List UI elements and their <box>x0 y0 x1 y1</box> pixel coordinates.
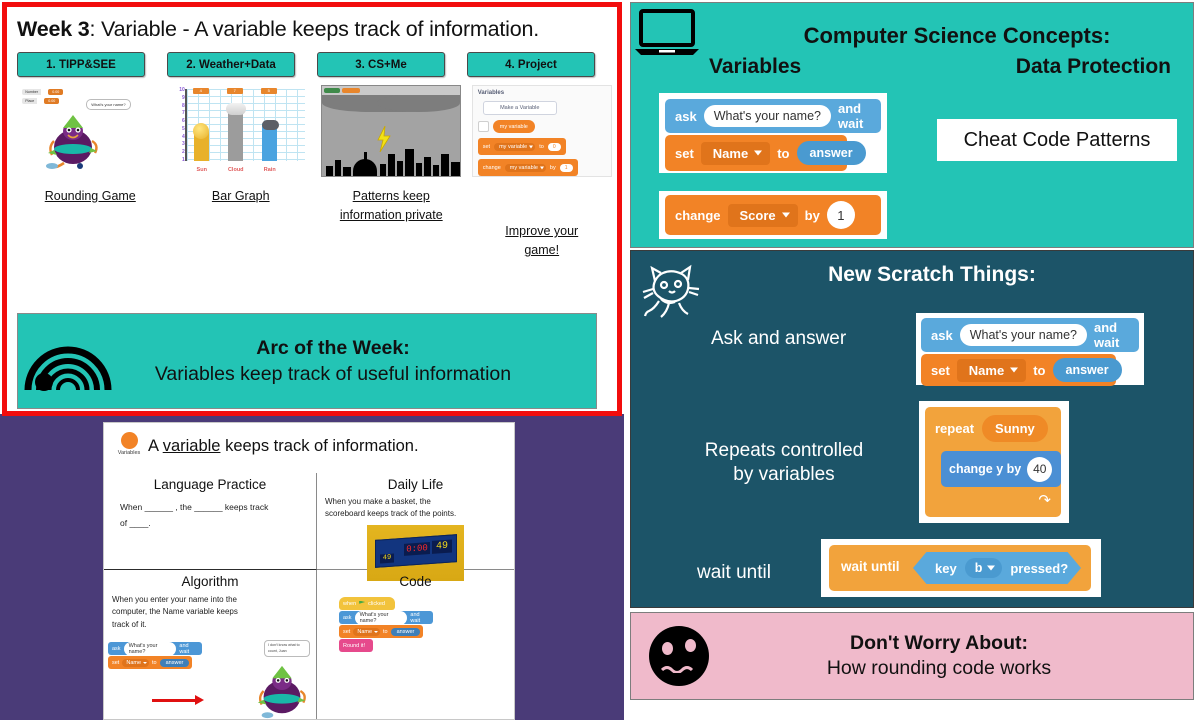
nst-ask-prompt-input[interactable]: What's your name? <box>960 324 1087 346</box>
cs-concepts-sub-variables: Variables <box>709 55 801 79</box>
repeat-block-header: repeat Sunny <box>925 407 1061 442</box>
code-ask-prompt-input[interactable]: What's your name? <box>355 611 408 625</box>
set-block-label: set <box>483 144 490 150</box>
nst-wait-until-card: wait until key b pressed? <box>821 539 1101 597</box>
arc-text-wrapper: Arc of the Week: Variables keep track of… <box>80 337 596 386</box>
tab-project[interactable]: 4. Project <box>467 52 595 77</box>
cs-to-label: to <box>777 146 789 161</box>
ytick-3: 3 <box>173 141 185 147</box>
ytick-8: 8 <box>173 103 185 109</box>
key-pressed-boolean[interactable]: key b pressed? <box>913 552 1081 584</box>
variables-badge-label: Variables <box>112 450 146 456</box>
card-title-pre: A <box>148 437 163 455</box>
thumbnail-caption-improve-game[interactable]: Improve your game! <box>505 222 578 261</box>
variable-readout-icon <box>342 88 360 93</box>
slide-canvas: Week 3: Variable - A variable keeps trac… <box>0 0 1196 720</box>
thumbnail-rounding-game[interactable]: Number 0.00 Place 0.00 What's your name? <box>15 85 166 261</box>
set-label: set <box>112 660 119 666</box>
arc-heading: Arc of the Week: <box>80 337 586 360</box>
repeat-label: repeat <box>935 421 974 436</box>
new-scratch-things-panel: New Scratch Things: Ask and answer Repea… <box>630 250 1194 608</box>
cs-by-label: by <box>805 208 820 223</box>
cs-change-variable-dropdown[interactable]: Score <box>728 204 798 227</box>
code-ask-label: ask <box>343 615 352 621</box>
algorithm-heading: Algorithm <box>112 574 308 589</box>
cs-set-variable-dropdown[interactable]: Name <box>701 142 770 165</box>
algorithm-line2: computer, the Name variable keeps <box>112 606 308 618</box>
variables-badge: Variables <box>112 432 146 456</box>
orange-circle-icon <box>121 432 138 449</box>
xtick-cloud: Cloud <box>223 167 249 173</box>
language-practice-heading: Language Practice <box>112 477 308 492</box>
code-and-wait-label: and wait <box>410 612 429 624</box>
when-label: when <box>343 601 356 607</box>
cs-set-label: set <box>675 146 694 161</box>
ytick-10: 10 <box>173 87 185 93</box>
new-scratch-item-repeats: Repeats controlled by variables <box>679 439 889 487</box>
cs-change-block[interactable]: change Score by 1 <box>665 195 881 235</box>
bar-chip-cloud: 7 <box>227 88 243 94</box>
wavy-mouth <box>661 666 697 673</box>
repeat-variable-reporter[interactable]: Sunny <box>982 415 1048 442</box>
nst-repeat-card: repeat Sunny change y by 40 ↷ <box>919 401 1069 523</box>
set-variable-dropdown[interactable]: Name <box>122 659 149 667</box>
week-label: Week 3 <box>17 17 90 41</box>
new-scratch-heading: New Scratch Things: <box>631 263 1193 287</box>
card-header: Variables A variable keeps track of info… <box>104 423 514 456</box>
patterns-preview[interactable] <box>321 85 461 177</box>
code-ask-block[interactable]: ask What's your name? and wait <box>339 611 433 624</box>
change-block-dropdown[interactable]: my variable <box>505 164 546 172</box>
set-block-to-label: to <box>539 144 544 150</box>
loop-arrow-icon: ↷ <box>1038 491 1051 509</box>
nst-ask-block[interactable]: ask What's your name? and wait <box>921 318 1139 352</box>
nst-ask-label: ask <box>931 328 953 343</box>
set-variable-block[interactable]: set my variable to 0 <box>478 138 566 155</box>
quadrant-grid: Language Practice When ______ , the ____… <box>104 473 514 719</box>
readout-label-number: Number <box>22 89 41 95</box>
readout-label-place: Place <box>22 98 37 104</box>
scoreboard-panel: 0:00 49 49 <box>375 534 457 568</box>
pressed-label: pressed? <box>1010 561 1068 576</box>
thumbnail-bar-graph[interactable]: 10 9 8 7 6 5 4 3 2 1 4 7 5 <box>166 85 317 261</box>
chart-y-tick-labels: 10 9 8 7 6 5 4 3 2 1 <box>173 87 185 163</box>
cs-set-block[interactable]: set Name to answer <box>665 135 847 171</box>
thumbnail-caption-bar-graph[interactable]: Bar Graph <box>212 187 270 206</box>
cs-and-wait-label: and wait <box>838 101 871 131</box>
change-y-value-input[interactable]: 40 <box>1027 457 1052 482</box>
round-it-block[interactable]: Round it! <box>339 639 373 652</box>
set-block-value[interactable]: 0 <box>548 143 561 151</box>
variable-definition-card: Variables A variable keeps track of info… <box>103 422 515 720</box>
daily-life-line2: scoreboard keeps track of the points. <box>325 508 506 520</box>
thumbnail-improve-game[interactable]: Variables Make a Variable my variable se… <box>467 85 618 261</box>
nst-answer-reporter[interactable]: answer <box>1053 358 1122 382</box>
cs-answer-reporter[interactable]: answer <box>797 141 866 165</box>
card-title: A variable keeps track of information. <box>148 437 419 456</box>
cs-concepts-sub-data-protection: Data Protection <box>1016 55 1171 79</box>
patterns-caption-line1: Patterns keep <box>353 189 430 203</box>
card-title-keyword: variable <box>163 437 221 455</box>
nst-set-block[interactable]: set Name to answer <box>921 354 1116 386</box>
card-title-post: keeps track of information. <box>220 437 418 455</box>
code-heading: Code <box>325 574 506 589</box>
algorithm-set-block[interactable]: set Name to answer <box>108 656 192 669</box>
scoreboard-clock: 0:00 <box>404 542 430 556</box>
change-block-value[interactable]: 1 <box>560 164 573 172</box>
ytick-1: 1 <box>173 157 185 163</box>
and-wait-label: and wait <box>179 643 198 655</box>
improve-caption-line2: game! <box>524 243 559 257</box>
sun-icon <box>193 123 209 139</box>
algorithm-sprite-bubble: I don't know what to count, Juan <box>264 640 310 657</box>
week-slide-panel: Week 3: Variable - A variable keeps trac… <box>2 2 622 416</box>
ytick-9: 9 <box>173 95 185 101</box>
cs-ask-prompt-input[interactable]: What's your name? <box>704 105 831 127</box>
speech-bubble: What's your name? <box>86 99 130 110</box>
code-set-label: set <box>343 629 350 635</box>
cs-change-label: change <box>675 208 721 223</box>
quadrant-algorithm: Algorithm When you enter your name into … <box>104 570 317 719</box>
bar-cloud <box>228 107 243 161</box>
my-variable-reporter[interactable]: my variable <box>493 120 535 133</box>
bar-graph-chart[interactable]: 10 9 8 7 6 5 4 3 2 1 4 7 5 <box>171 85 311 177</box>
daily-life-line1: When you make a basket, the <box>325 496 506 508</box>
rain-cloud-icon <box>262 120 279 130</box>
quadrant-language-practice: Language Practice When ______ , the ____… <box>104 473 317 570</box>
cs-concepts-panel: Computer Science Concepts: Variables Dat… <box>630 2 1194 248</box>
variables-palette-preview[interactable]: Variables Make a Variable my variable se… <box>472 85 612 177</box>
cs-change-value-input[interactable]: 1 <box>827 201 855 229</box>
when-flag-clicked-block[interactable]: when clicked <box>339 597 395 610</box>
ytick-2: 2 <box>173 149 185 155</box>
patterns-caption-line2: information private <box>340 208 443 222</box>
algorithm-line1: When you enter your name into the <box>112 594 308 606</box>
xtick-sun: Sun <box>189 167 215 173</box>
right-eye <box>685 639 696 652</box>
change-variable-block[interactable]: change my variable by 1 <box>478 159 578 176</box>
algorithm-block-stack[interactable]: ask What's your name? and wait set Name … <box>108 642 202 669</box>
dont-worry-heading: Don't Worry About: <box>709 632 1169 655</box>
dont-worry-panel: Don't Worry About: How rounding code wor… <box>630 612 1194 700</box>
cs-concepts-heading: Computer Science Concepts: <box>731 23 1183 49</box>
nst-to-label: to <box>1033 363 1045 378</box>
rounding-game-preview[interactable]: Number 0.00 Place 0.00 What's your name? <box>20 85 160 177</box>
ytick-7: 7 <box>173 110 185 116</box>
code-answer-reporter[interactable]: answer <box>391 628 421 636</box>
red-arrow-icon <box>152 699 196 702</box>
bar-chip-rain: 5 <box>261 88 277 94</box>
cs-ask-label: ask <box>675 109 697 124</box>
language-practice-line2: of ____. <box>120 516 308 532</box>
thumbnail-row: Number 0.00 Place 0.00 What's your name? <box>15 85 617 261</box>
key-label: key <box>935 561 957 576</box>
repeats-line1: Repeats controlled <box>679 439 889 463</box>
change-block-label: change <box>483 165 501 171</box>
code-set-block[interactable]: set Name to answer <box>339 625 423 638</box>
make-a-variable-button[interactable]: Make a Variable <box>483 101 557 115</box>
key-dropdown[interactable]: b <box>965 558 1003 578</box>
algorithm-line3: track of it. <box>112 619 308 631</box>
new-scratch-item-wait-until: wait until <box>697 561 771 585</box>
daily-life-heading: Daily Life <box>325 477 506 492</box>
scoreboard-home-score: 49 <box>432 539 452 553</box>
change-y-by-block[interactable]: change y by 40 <box>941 451 1061 487</box>
clicked-label: clicked <box>368 601 385 607</box>
ytick-6: 6 <box>173 118 185 124</box>
laptop-icon <box>635 9 707 61</box>
repeats-line2: by variables <box>679 463 889 487</box>
change-y-label: change y by <box>949 462 1021 476</box>
variable-checkbox[interactable] <box>478 121 489 132</box>
cs-change-block-card: change Score by 1 <box>659 191 887 239</box>
thumbnail-caption-patterns[interactable]: Patterns keep information private <box>340 187 443 226</box>
answer-reporter[interactable]: answer <box>160 659 190 667</box>
change-block-by-label: by <box>550 165 556 171</box>
arc-of-the-week-banner: Arc of the Week: Variables keep track of… <box>17 313 597 409</box>
cloud-icon <box>226 103 246 115</box>
dont-worry-body: How rounding code works <box>709 657 1169 680</box>
nst-set-variable-dropdown[interactable]: Name <box>957 359 1026 382</box>
lightning-bolt-icon <box>376 126 392 152</box>
code-to-label: to <box>383 629 388 635</box>
tab-tipp-see[interactable]: 1. TIPP&SEE <box>17 52 145 77</box>
cs-ask-block[interactable]: ask What's your name? and wait <box>665 99 881 133</box>
right-column: Computer Science Concepts: Variables Dat… <box>630 2 1194 718</box>
ytick-4: 4 <box>173 134 185 140</box>
improve-caption-line1: Improve your <box>505 224 578 238</box>
bar-chip-sun: 4 <box>193 88 209 94</box>
quadrant-daily-life: Daily Life When you make a basket, the s… <box>317 473 514 570</box>
ask-label: ask <box>112 646 121 652</box>
cs-ask-set-block-card: ask What's your name? and wait set Name … <box>659 93 887 173</box>
readout-value-number: 0.00 <box>48 89 63 95</box>
gobo-sprite-icon <box>42 113 104 169</box>
tab-cs-me[interactable]: 3. CS+Me <box>317 52 445 77</box>
ask-prompt-input[interactable]: What's your name? <box>124 642 177 656</box>
left-eye <box>662 642 673 655</box>
nst-set-label: set <box>931 363 950 378</box>
readout-value-place: 0.00 <box>44 98 59 104</box>
green-flag-icon[interactable] <box>324 88 340 93</box>
thumbnail-caption-rounding-game[interactable]: Rounding Game <box>45 187 136 206</box>
thumbnail-patterns[interactable]: Patterns keep information private <box>316 85 467 261</box>
palette-heading: Variables <box>478 90 504 96</box>
ytick-5: 5 <box>173 126 185 132</box>
new-scratch-item-ask-answer: Ask and answer <box>711 327 846 351</box>
page-title: Week 3: Variable - A variable keeps trac… <box>17 17 617 42</box>
quadrant-code: Code when clicked ask What's your name? … <box>317 570 514 719</box>
tab-weather-data[interactable]: 2. Weather+Data <box>167 52 295 77</box>
round-it-label: Round it! <box>343 643 365 649</box>
nst-and-wait-label: and wait <box>1094 320 1129 350</box>
wait-until-block[interactable]: wait until key b pressed? <box>829 545 1091 591</box>
xtick-rain: Rain <box>257 167 283 173</box>
arc-body: Variables keep track of useful informati… <box>80 363 586 386</box>
code-block-stack[interactable]: when clicked ask What's your name? and w… <box>339 597 520 652</box>
to-label: to <box>152 660 157 666</box>
algorithm-ask-block[interactable]: ask What's your name? and wait <box>108 642 202 655</box>
set-block-dropdown[interactable]: my variable <box>494 143 535 151</box>
week-button-row: 1. TIPP&SEE 2. Weather+Data 3. CS+Me 4. … <box>17 52 617 77</box>
language-practice-line1: When ______ , the ______ keeps track <box>120 500 308 516</box>
algorithm-gobo-sprite-icon <box>252 663 312 719</box>
cheat-code-patterns-box: Cheat Code Patterns <box>937 119 1177 161</box>
nst-ask-set-card: ask What's your name? and wait set Name … <box>916 313 1144 385</box>
wait-until-label: wait until <box>841 559 900 574</box>
green-flag-icon <box>359 601 365 607</box>
scoreboard-guest-score: 49 <box>380 554 394 564</box>
stage-toolbar <box>322 86 460 95</box>
week-title-rest: : Variable - A variable keeps track of i… <box>90 17 540 41</box>
chart-y-axis <box>185 89 187 161</box>
repeat-block[interactable]: repeat Sunny change y by 40 ↷ <box>925 407 1061 517</box>
dont-worry-text: Don't Worry About: How rounding code wor… <box>709 632 1193 680</box>
worried-face-icon <box>649 626 709 686</box>
code-set-dropdown[interactable]: Name <box>353 628 380 636</box>
